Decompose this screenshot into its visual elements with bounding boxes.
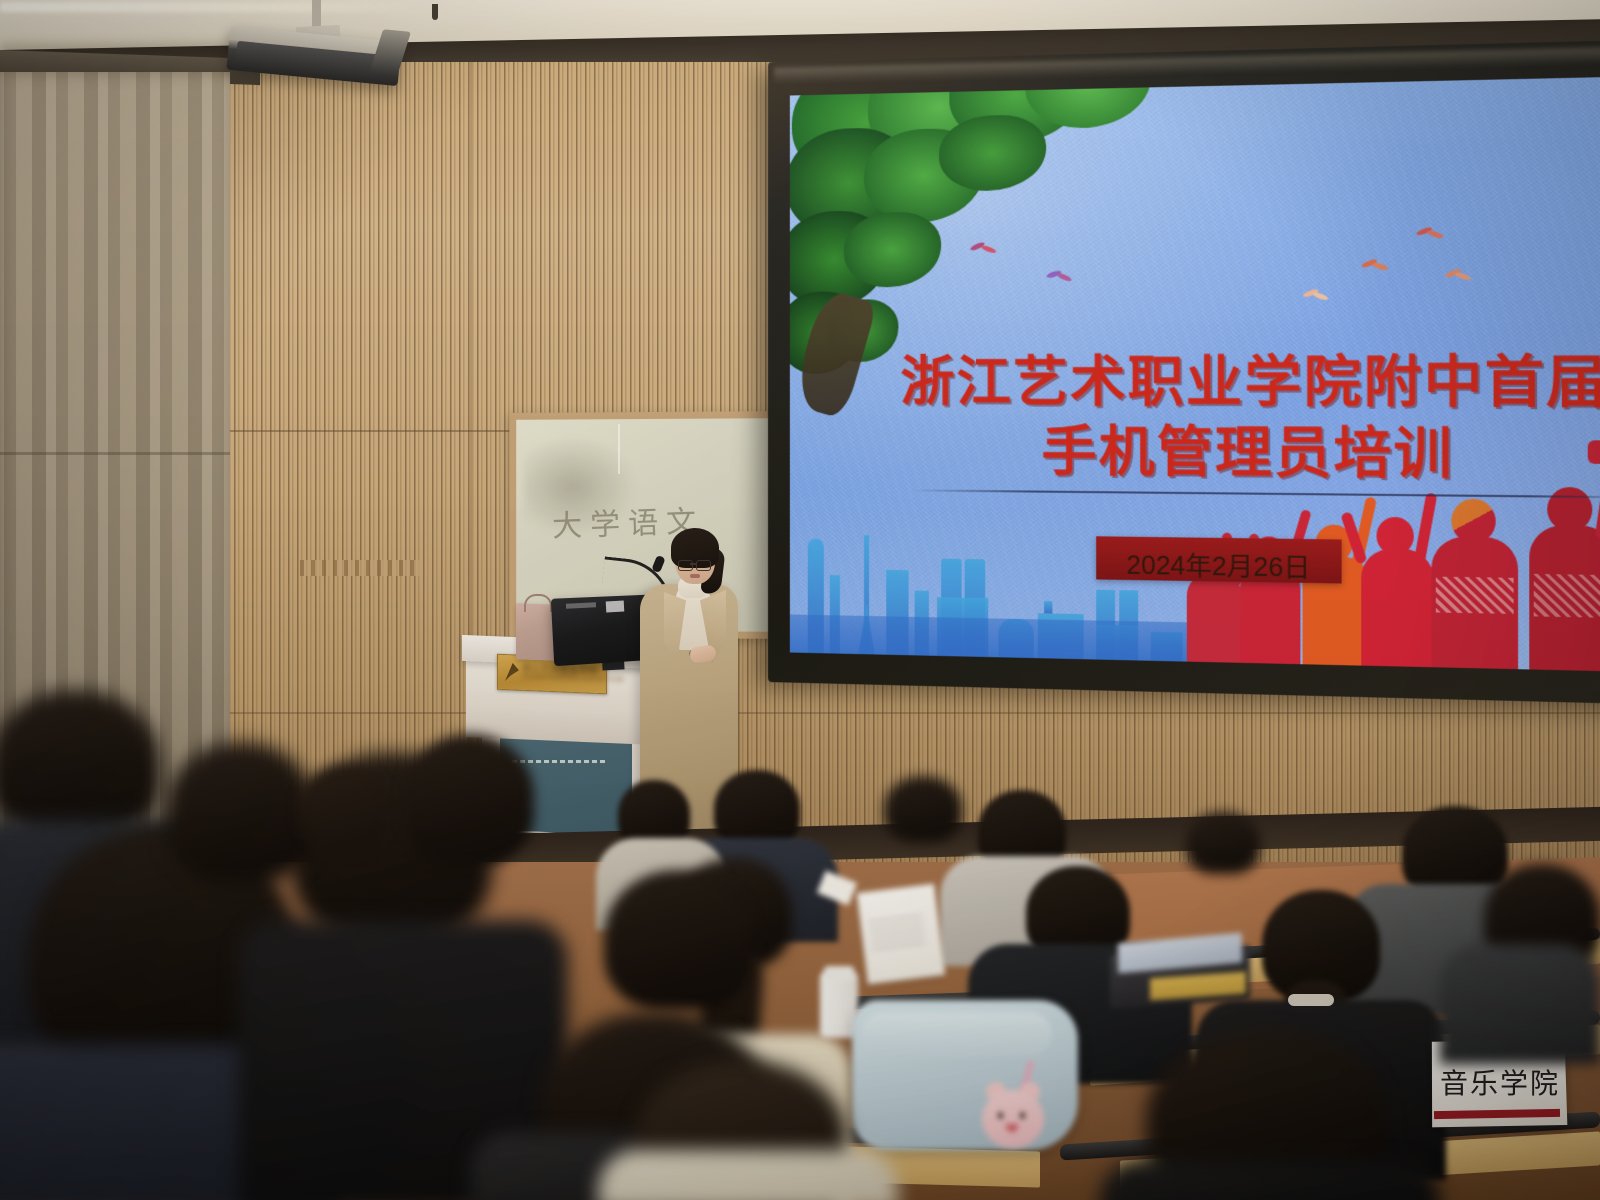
eyeglasses-bridge: [690, 563, 697, 565]
audience-body: [598, 1150, 898, 1200]
photo-scene: 大学语文: [0, 0, 1600, 1200]
slide-title-line1: 浙江艺术职业学院附中首届: [860, 338, 1600, 420]
poster-text-line: [512, 760, 608, 763]
audience-head: [884, 776, 962, 842]
audience-head: [166, 742, 316, 882]
bag-flap: [862, 1012, 1052, 1056]
display-panel: 浙江艺术职业学院附中首届 手机管理员培训 2024年2月26日: [790, 76, 1600, 672]
slide-date-text: 2024年2月26日: [1096, 545, 1341, 586]
audience-body: [1100, 1160, 1440, 1200]
slide-title-line2: 手机管理员培训: [860, 408, 1600, 492]
plush-eye: [1020, 1112, 1025, 1119]
audience-head: [1186, 812, 1260, 874]
ceiling-strip-light: [0, 2, 420, 12]
whiteboard-crease: [618, 424, 620, 474]
eyeglasses-icon: [696, 560, 711, 571]
hair-tie: [1288, 994, 1334, 1006]
plush-toy: [982, 1090, 1044, 1148]
monitor-sticker: [606, 601, 625, 613]
wall-vent: [300, 560, 420, 576]
name-card-text: 音乐学院: [1440, 1062, 1560, 1102]
audience-head: [604, 870, 754, 1010]
audience-hair-bun: [298, 766, 390, 854]
audience-body: [1440, 944, 1600, 1064]
bag-handle: [524, 594, 552, 612]
audience-head: [0, 690, 160, 840]
plush-eye: [998, 1112, 1003, 1119]
presenter-mouth: [690, 574, 700, 578]
led-display: 浙江艺术职业学院附中首届 手机管理员培训 2024年2月26日: [768, 39, 1600, 704]
eyeglasses-icon: [678, 560, 693, 571]
bottle-cap: [824, 966, 854, 980]
wall-seam: [0, 712, 1600, 714]
whiteboard-text: 大学语文: [551, 495, 752, 546]
ceiling-hook: [432, 4, 438, 20]
curtain-seam: [0, 452, 230, 455]
audience-head: [404, 734, 534, 864]
